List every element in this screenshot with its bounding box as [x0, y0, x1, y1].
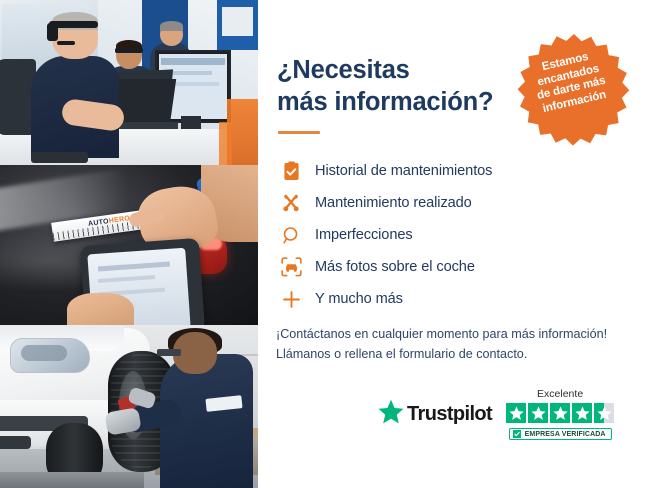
car-inspection-ruler-photo: AUTOHERO: [0, 165, 258, 325]
feature-item-mantenimiento: Mantenimiento realizado: [276, 187, 626, 219]
star-half: [594, 403, 614, 423]
feature-item-historial: Historial de mantenimientos: [276, 155, 626, 187]
support-starburst-badge: Estamos encantados de darte más informac…: [504, 30, 644, 170]
trustpilot-logo: Trustpilot: [378, 399, 492, 429]
rating-label: Excelente: [537, 388, 583, 400]
star-filled: [550, 403, 570, 423]
page-title: ¿Necesitas más información?: [277, 54, 507, 118]
feature-label: Mantenimiento realizado: [315, 195, 472, 211]
content-panel: ¿Necesitas más información? Estamos: [258, 0, 650, 488]
badge-text: Estamos encantados de darte más informac…: [513, 44, 627, 120]
contact-line-2: Llámanos o rellena el formulario de cont…: [276, 345, 636, 365]
contact-text: ¡Contáctanos en cualquier momento para m…: [276, 325, 636, 365]
feature-label: Historial de mantenimientos: [315, 163, 492, 179]
wheel-inspection-photo: [0, 325, 258, 488]
contact-line-1: ¡Contáctanos en cualquier momento para m…: [276, 325, 636, 345]
feature-label: Imperfecciones: [315, 227, 413, 243]
verified-business-badge: EMPRESA VERIFICADA: [509, 428, 612, 440]
car-photo-frame-icon: [276, 257, 306, 277]
feature-label: Y mucho más: [315, 291, 403, 307]
check-icon: [513, 430, 521, 438]
feature-label: Más fotos sobre el coche: [315, 259, 475, 275]
clipboard-check-icon: [276, 161, 306, 181]
call-center-agents-photo: [0, 0, 258, 165]
feature-item-imperfecciones: Imperfecciones: [276, 219, 626, 251]
title-underline-rule: [278, 131, 320, 134]
headline-line-2: más información?: [277, 86, 507, 118]
tools-cross-icon: [276, 193, 306, 213]
star-filled: [572, 403, 592, 423]
verified-label: EMPRESA VERIFICADA: [525, 431, 606, 438]
feature-item-mas: Y mucho más: [276, 283, 626, 315]
plus-icon: [276, 290, 306, 309]
magnifier-icon: [276, 226, 306, 245]
trustpilot-wordmark: Trustpilot: [407, 403, 492, 426]
info-promo-banner: AUTOHERO: [0, 0, 650, 488]
star-filled: [528, 403, 548, 423]
feature-list: Historial de mantenimientos Mantenimient…: [276, 155, 626, 315]
photo-column: AUTOHERO: [0, 0, 258, 488]
feature-item-fotos: Más fotos sobre el coche: [276, 251, 626, 283]
headline-line-1: ¿Necesitas: [277, 54, 507, 86]
star-filled: [506, 403, 526, 423]
star-rating: [506, 403, 614, 423]
trustpilot-rating: Trustpilot Excelente: [378, 388, 614, 440]
trustpilot-star-icon: [378, 399, 404, 429]
